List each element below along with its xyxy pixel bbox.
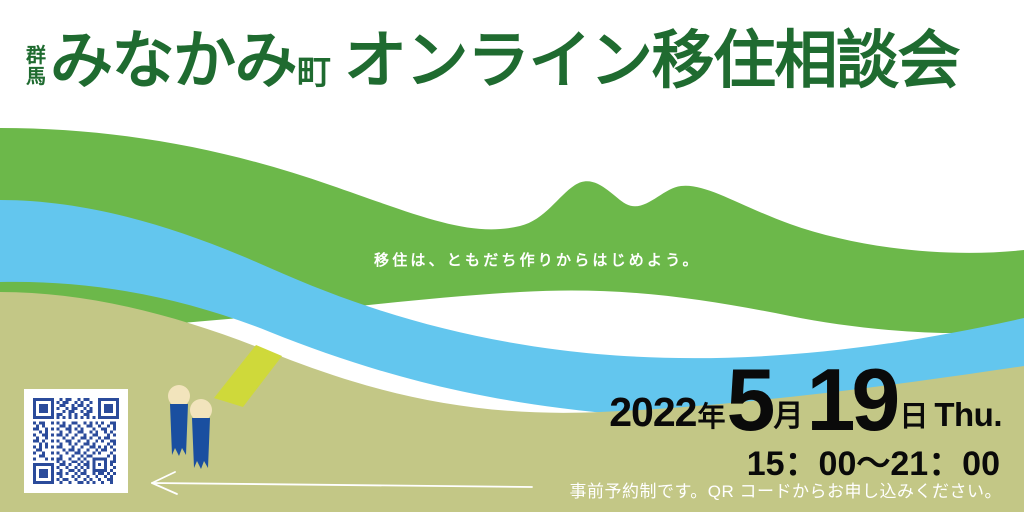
town-name: みなかみ	[50, 30, 296, 93]
date-year-kanji: 年	[697, 395, 725, 435]
town-suffix: 町	[297, 56, 330, 90]
tagline: 移住は、ともだち作りからはじめよう。	[374, 249, 701, 270]
qr-code[interactable]	[24, 389, 128, 493]
date-weekday: Thu.	[934, 396, 1002, 434]
prefecture-mark: 群 馬	[26, 46, 45, 87]
date-day-kanji: 日	[899, 393, 928, 435]
reservation-note: 事前予約制です。QR コードからお申し込みください。	[569, 477, 1002, 502]
date-day: 19	[806, 364, 896, 436]
poster-canvas: 群 馬 みなかみ 町 オンライン移住相談会 移住は、ともだち作りからはじめよう。…	[0, 0, 1024, 512]
event-date: 2022 年 5 月 19 日 Thu.	[609, 360, 1002, 436]
poster-title: 群 馬 みなかみ 町 オンライン移住相談会	[26, 30, 959, 93]
event-name: オンライン移住相談会	[344, 30, 959, 93]
date-month-kanji: 月	[773, 391, 803, 435]
prefecture-line-1: 群	[26, 46, 45, 66]
qr-code-icon	[33, 398, 119, 484]
prefecture-line-2: 馬	[26, 67, 45, 87]
date-year: 2022	[609, 389, 696, 436]
date-month: 5	[726, 364, 771, 436]
